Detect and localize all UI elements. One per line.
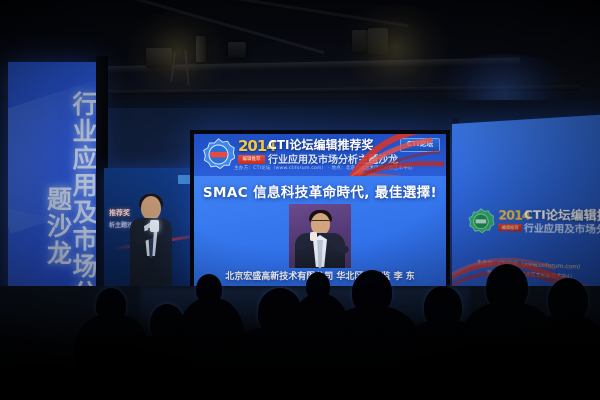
glasses-icon [312, 220, 329, 225]
stage-lamp-icon-5 [368, 28, 388, 54]
main-projection-screen-frame: 2014 编辑推荐 CTI论坛编辑推荐奖 行业应用及市场分析主题沙龙 主办方：C… [190, 130, 450, 290]
award-seal-icon [202, 138, 235, 171]
stage-lamp-icon-2 [146, 48, 172, 68]
stage-lamp-icon-3 [228, 42, 246, 58]
right-projection-screen: 2014 编辑推荐 CTI论坛编辑推荐奖 行业应用及市场分析主题 主办方：CTI… [452, 114, 600, 296]
right-award-ribbon-label: 编辑推荐 [498, 224, 521, 232]
main-projection-screen: 2014 编辑推荐 CTI论坛编辑推荐奖 行业应用及市场分析主题沙龙 主办方：C… [194, 134, 446, 286]
stage-lamp-icon-1 [196, 36, 206, 62]
portrait-microphone-icon [310, 232, 317, 241]
right-award-subtitle: 行业应用及市场分析主题 [524, 221, 600, 237]
speaker-head [141, 196, 161, 220]
conference-photo-scene: 行业应用及市场分析主题沙龙 推荐奖 析主题沙龙 2014 编辑推荐 CTI论坛编… [0, 0, 600, 400]
left-screen-line-1: 推荐奖 [109, 208, 130, 218]
right-award-seal-icon [468, 208, 494, 235]
award-subtitle: 行业应用及市场分析主题沙龙 [268, 151, 398, 166]
microphone-icon [150, 220, 159, 232]
stage-lamp-icon-4 [352, 30, 368, 52]
slide-header-bar: 2014 编辑推荐 CTI论坛编辑推荐奖 行业应用及市场分析主题沙龙 主办方：C… [194, 134, 446, 176]
cti-forum-badge: CTI论坛 [400, 138, 440, 152]
slide-headline: SMAC 信息科技革命時代, 最佳選擇! [194, 181, 446, 201]
audience-shoulders [96, 370, 172, 400]
presenter-portrait [289, 204, 351, 268]
audience-shoulders [524, 314, 600, 400]
stage-speaker-person [128, 196, 174, 300]
audience-shoulders [288, 294, 352, 400]
award-meta-line: 主办方：CTI论坛（www.ctiforum.com） · 地点：北京798艺术… [234, 165, 413, 171]
award-ribbon-label: 编辑推荐 [238, 155, 265, 164]
